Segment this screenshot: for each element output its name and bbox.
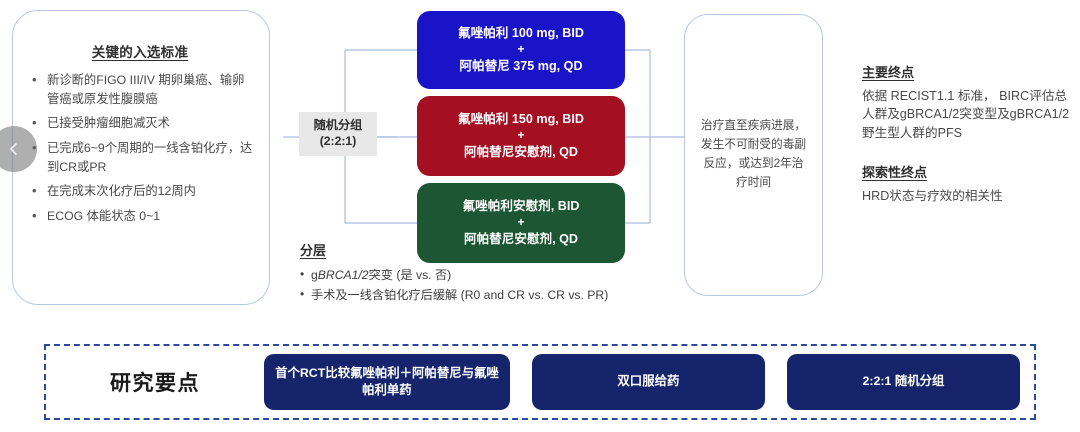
arm-3-plus: + <box>517 216 524 229</box>
criteria-list: 新诊断的FIGO III/IV 期卵巢癌、输卵管癌或原发性腹膜癌 已接受肿瘤细胞… <box>23 71 257 226</box>
randomization-node: 随机分组 (2:2:1) <box>299 112 377 156</box>
trial-design-slide: 关键的入选标准 新诊断的FIGO III/IV 期卵巢癌、输卵管癌或原发性腹膜癌… <box>0 0 1080 432</box>
primary-endpoint-heading: 主要终点 <box>862 62 1072 81</box>
criteria-item: ECOG 体能状态 0~1 <box>29 207 253 226</box>
highlight-box-3: 2:2:1 随机分组 <box>787 354 1020 410</box>
arm-2-drug-line-2: 阿帕替尼安慰剂, QD <box>464 144 578 162</box>
study-highlights-boxes: 首个RCT比较氟唑帕利＋阿帕替尼与氟唑帕利单药 双口服给药 2:2:1 随机分组 <box>264 354 1034 410</box>
stratification-item: 手术及一线含铂化疗后缓解 (R0 and CR vs. CR vs. PR) <box>300 286 720 306</box>
study-highlights-label: 研究要点 <box>46 367 264 397</box>
inclusion-criteria-panel: 关键的入选标准 新诊断的FIGO III/IV 期卵巢癌、输卵管癌或原发性腹膜癌… <box>12 10 270 305</box>
criteria-item: 已接受肿瘤细胞减灭术 <box>29 114 253 133</box>
stratification-item: gBRCA1/2突变 (是 vs. 否) <box>300 266 720 286</box>
randomization-label: 随机分组 <box>303 117 373 133</box>
exploratory-endpoint-text: HRD状态与疗效的相关性 <box>862 187 1072 205</box>
stratification-title: 分层 <box>300 240 720 259</box>
criteria-item: 新诊断的FIGO III/IV 期卵巢癌、输卵管癌或原发性腹膜癌 <box>29 71 253 108</box>
arm-2-drug-line-1: 氟唑帕利 150 mg, BID <box>458 111 584 129</box>
arm-1-drug-line-2: 阿帕替尼 375 mg, QD <box>459 58 582 76</box>
treatment-arm-1: 氟唑帕利 100 mg, BID + 阿帕替尼 375 mg, QD <box>417 11 625 89</box>
criteria-item: 在完成末次化疗后的12周内 <box>29 182 253 201</box>
highlight-box-1: 首个RCT比较氟唑帕利＋阿帕替尼与氟唑帕利单药 <box>264 354 510 410</box>
criteria-item: 已完成6~9个周期的一线含铂化疗，达到CR或PR <box>29 139 253 176</box>
primary-endpoint-text: 依据 RECIST1.1 标准， BIRC评估总人群及gBRCA1/2突变型及g… <box>862 87 1072 142</box>
randomization-ratio: (2:2:1) <box>303 133 373 149</box>
chevron-left-icon <box>6 141 22 157</box>
highlight-box-2: 双口服给药 <box>532 354 765 410</box>
endpoints-block: 主要终点 依据 RECIST1.1 标准， BIRC评估总人群及gBRCA1/2… <box>862 62 1072 225</box>
arm-1-plus: + <box>517 43 524 56</box>
criteria-title: 关键的入选标准 <box>23 41 257 61</box>
arm-2-plus: + <box>517 129 524 142</box>
stratification-list: gBRCA1/2突变 (是 vs. 否) 手术及一线含铂化疗后缓解 (R0 an… <box>300 266 720 306</box>
stratification-block: 分层 gBRCA1/2突变 (是 vs. 否) 手术及一线含铂化疗后缓解 (R0… <box>300 240 720 306</box>
treatment-arm-2: 氟唑帕利 150 mg, BID + 阿帕替尼安慰剂, QD <box>417 96 625 176</box>
arm-3-drug-line-1: 氟唑帕利安慰剂, BID <box>463 198 580 216</box>
arm-1-drug-line-1: 氟唑帕利 100 mg, BID <box>458 25 584 43</box>
study-highlights-strip: 研究要点 首个RCT比较氟唑帕利＋阿帕替尼与氟唑帕利单药 双口服给药 2:2:1… <box>44 344 1036 420</box>
exploratory-endpoint-heading: 探索性终点 <box>862 162 1072 181</box>
treatment-duration-text: 治疗直至疾病进展，发生不可耐受的毒副反应，或达到2年治疗时间 <box>699 117 808 193</box>
